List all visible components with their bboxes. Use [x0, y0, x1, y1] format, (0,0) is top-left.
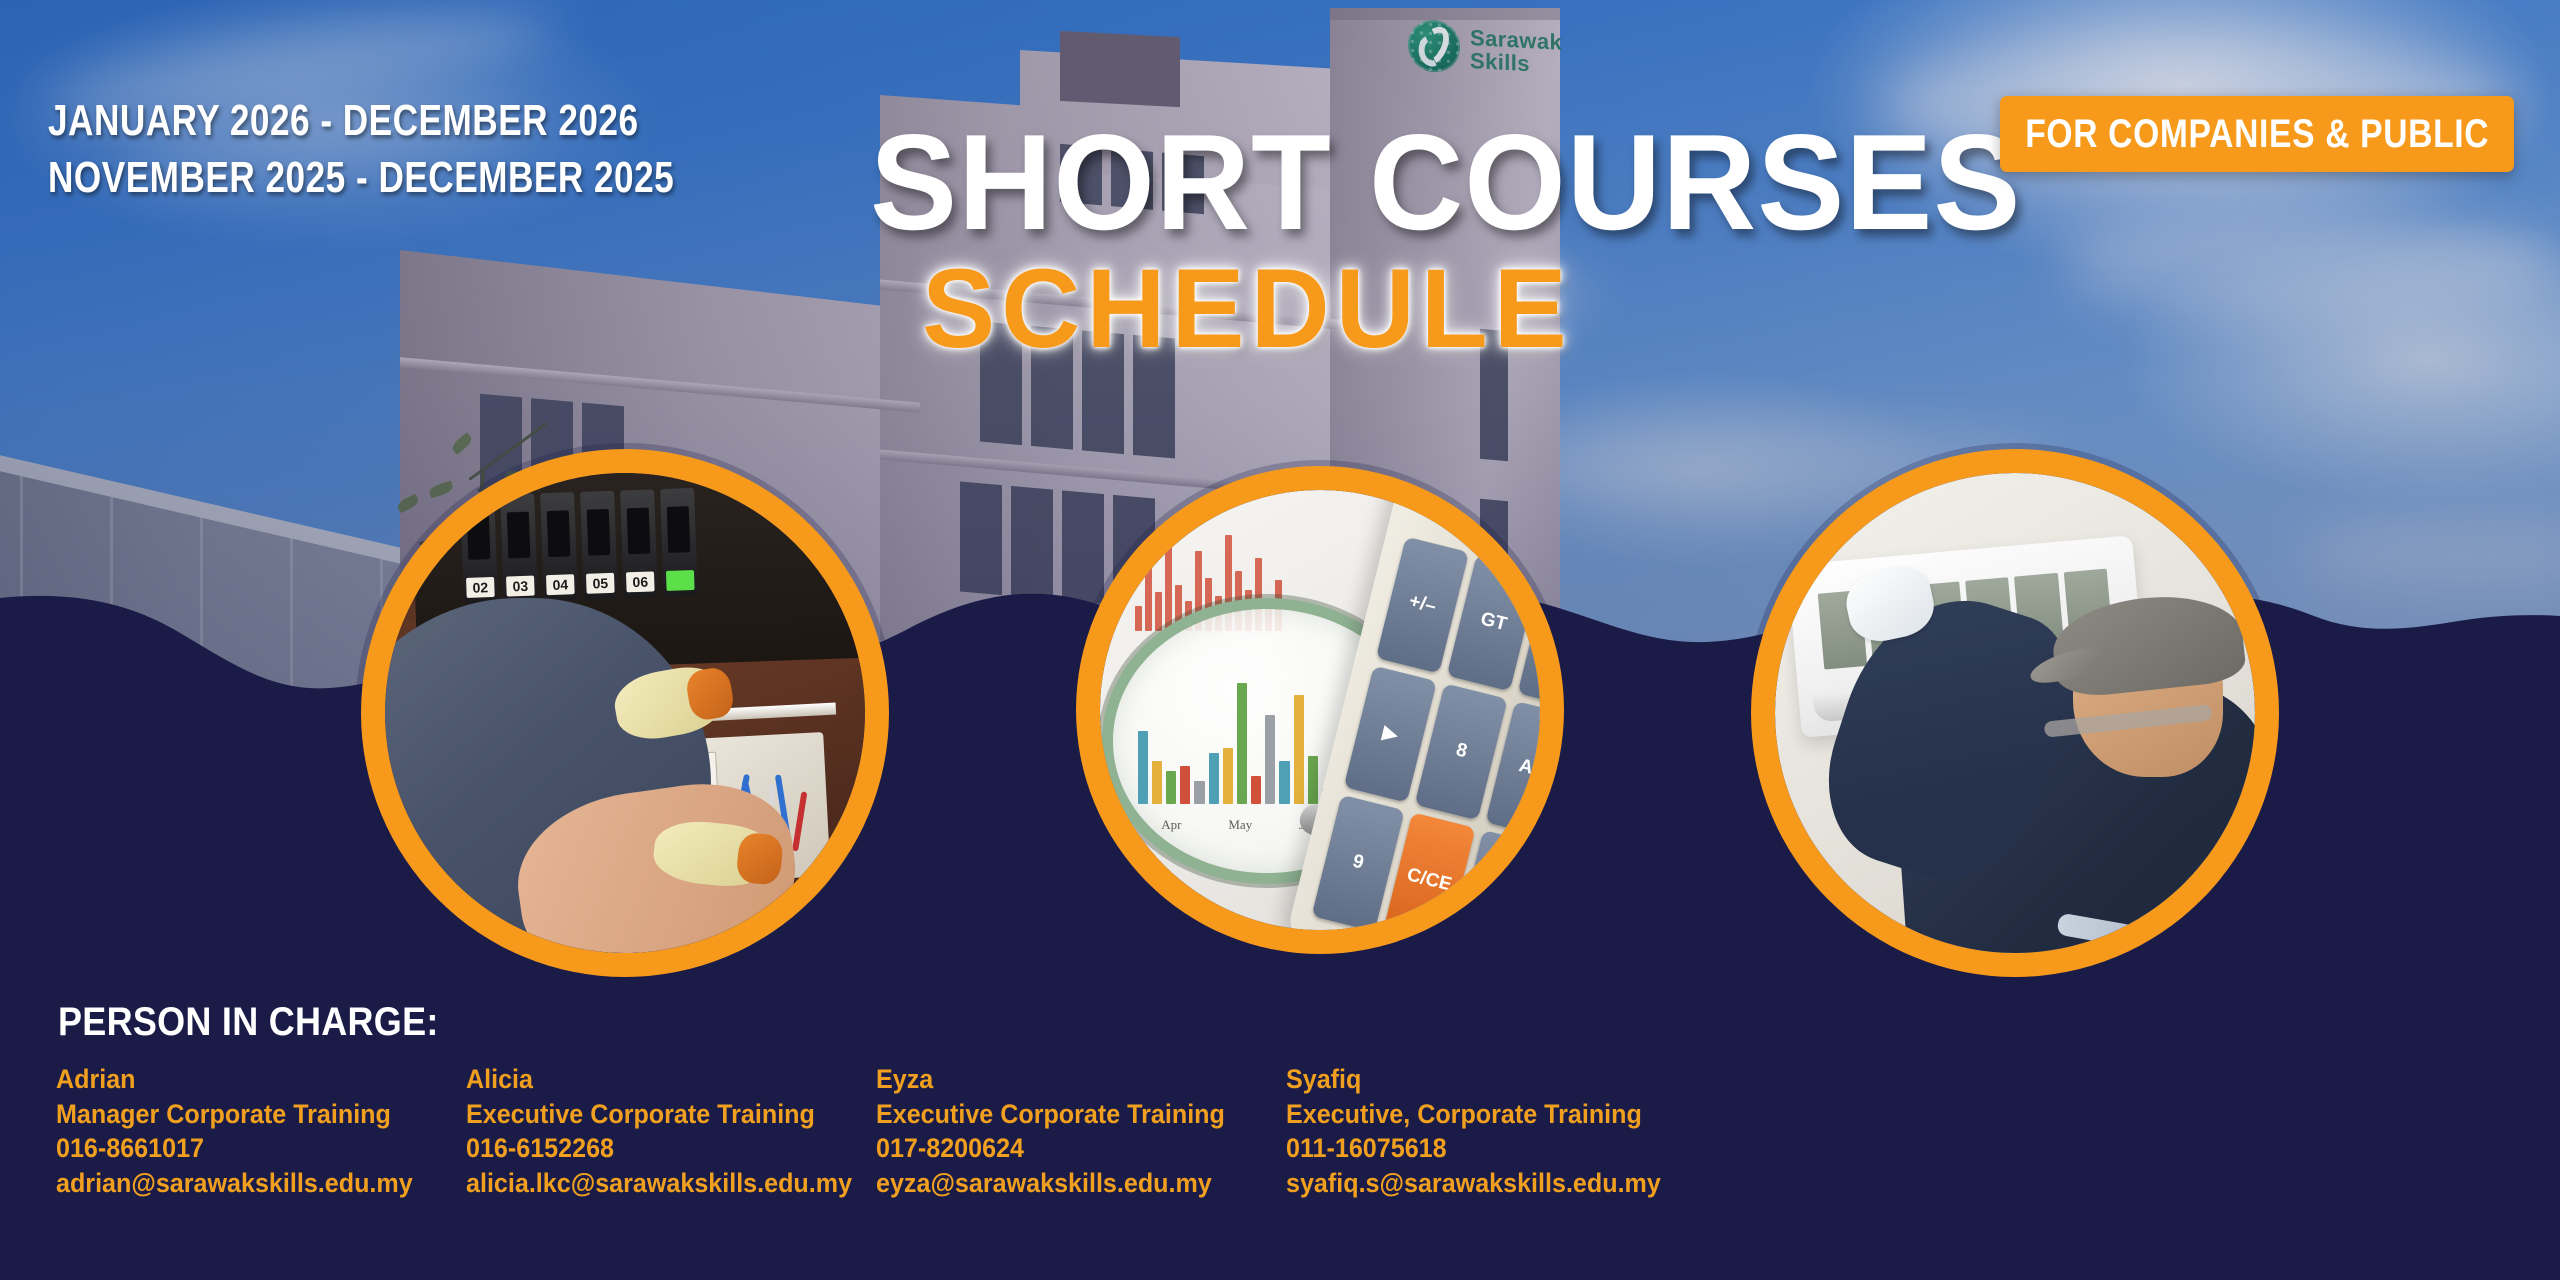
breaker-number: 06: [626, 572, 655, 593]
contact-phone[interactable]: 016-8661017: [56, 1131, 437, 1166]
breaker-number: 07: [666, 570, 695, 591]
breaker-number: 02: [466, 577, 495, 598]
course-image-air-conditioning[interactable]: [1775, 473, 2255, 953]
breaker-number: 03: [506, 576, 535, 597]
course-image-electrical[interactable]: 02 03 04 05 06 07: [385, 473, 865, 953]
contact-role: Executive Corporate Training: [876, 1097, 1257, 1132]
contact-name: Alicia: [466, 1062, 847, 1097]
short-courses-schedule-banner: Sarawak Skills JANUARY 2026 - DECEMBER 2…: [0, 0, 2560, 1280]
contact-role: Executive, Corporate Training: [1286, 1097, 1667, 1132]
contact-card: Adrian Manager Corporate Training 016-86…: [56, 1062, 466, 1200]
course-image-business-finance[interactable]: Apr May Jun Jul 45.00 +/– GT 7 ▶ 8 AC 9: [1100, 490, 1540, 930]
month-label: May: [1228, 817, 1252, 833]
audience-badge-label: FOR COMPANIES & PUBLIC: [2025, 112, 2489, 157]
date-range-block: JANUARY 2026 - DECEMBER 2026 NOVEMBER 20…: [48, 92, 674, 206]
date-range-line-2: NOVEMBER 2025 - DECEMBER 2025: [48, 149, 674, 206]
contact-email[interactable]: alicia.lkc@sarawakskills.edu.my: [466, 1166, 847, 1201]
sheet-number: 45.00: [1144, 848, 1179, 862]
page-subtitle: SCHEDULE: [922, 253, 1851, 365]
breaker-number: 05: [586, 573, 615, 594]
month-label: Apr: [1161, 817, 1181, 833]
contact-role: Manager Corporate Training: [56, 1097, 437, 1132]
contact-phone[interactable]: 011-16075618: [1286, 1131, 1667, 1166]
contact-name: Adrian: [56, 1062, 437, 1097]
contact-role: Executive Corporate Training: [466, 1097, 847, 1132]
contact-email[interactable]: adrian@sarawakskills.edu.my: [56, 1166, 437, 1201]
contact-phone[interactable]: 017-8200624: [876, 1131, 1257, 1166]
audience-badge[interactable]: FOR COMPANIES & PUBLIC: [2000, 96, 2514, 172]
contact-phone[interactable]: 016-6152268: [466, 1131, 847, 1166]
breaker-row: 02 03 04 05 06 07: [460, 488, 698, 604]
contact-name: Eyza: [876, 1062, 1257, 1097]
date-range-line-1: JANUARY 2026 - DECEMBER 2026: [48, 92, 674, 149]
page-title: SHORT COURSES: [870, 120, 1830, 245]
contact-card: Alicia Executive Corporate Training 016-…: [466, 1062, 876, 1200]
reflective-stripe: [2056, 913, 2229, 953]
breaker-number: 04: [546, 574, 575, 595]
headline-block: SHORT COURSES SCHEDULE: [870, 120, 1870, 365]
contacts-list: Adrian Manager Corporate Training 016-86…: [56, 1062, 2056, 1200]
contact-card: Syafiq Executive, Corporate Training 011…: [1286, 1062, 1696, 1200]
contact-name: Syafiq: [1286, 1062, 1667, 1097]
contact-email[interactable]: eyza@sarawakskills.edu.my: [876, 1166, 1257, 1201]
contact-email[interactable]: syafiq.s@sarawakskills.edu.my: [1286, 1166, 1667, 1201]
contacts-heading: PERSON IN CHARGE:: [58, 1000, 439, 1045]
contact-card: Eyza Executive Corporate Training 017-82…: [876, 1062, 1286, 1200]
